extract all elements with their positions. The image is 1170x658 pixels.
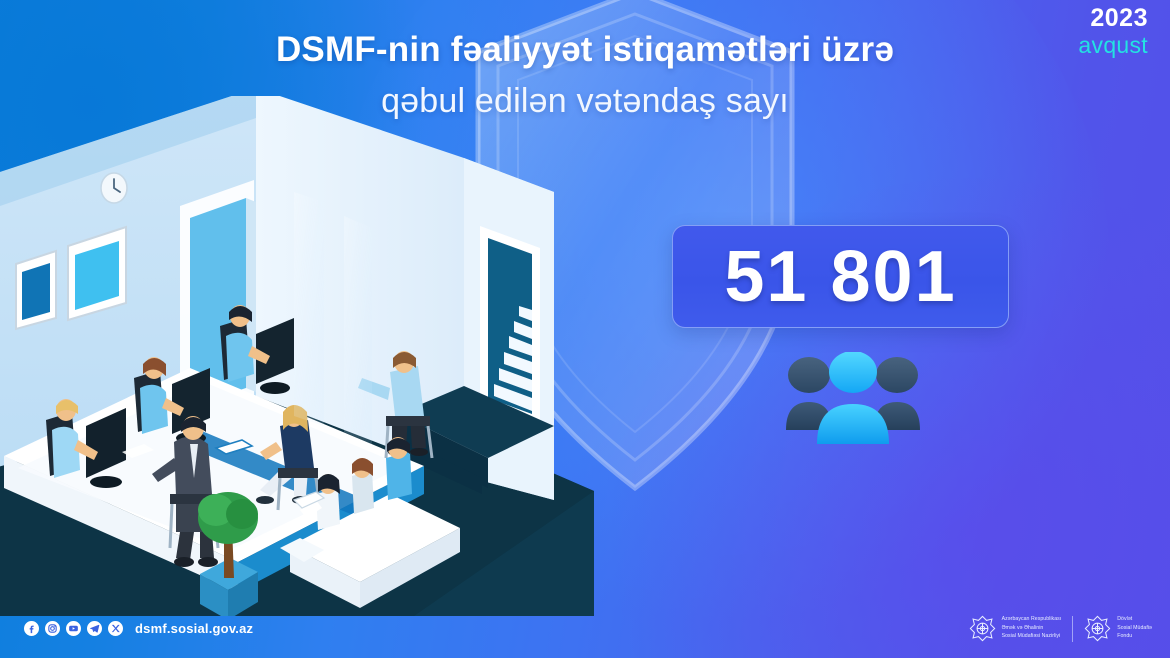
statistic-value: 51 801 (724, 236, 956, 318)
ministry-logo-line-2: Əmək və Əhalinin (1002, 625, 1062, 633)
instagram-icon[interactable] (45, 621, 60, 636)
dsmf-emblem-icon (1084, 615, 1111, 642)
footer-logos: Azərbaycan Respublikası Əmək və Əhalinin… (969, 615, 1152, 642)
dsmf-logo: Dövlət Sosial Müdafiə Fondu (1084, 615, 1152, 642)
ministry-logo-text: Azərbaycan Respublikası Əmək və Əhalinin… (1002, 616, 1062, 641)
x-twitter-icon[interactable] (108, 621, 123, 636)
dsmf-logo-line-2: Sosial Müdafiə (1117, 625, 1152, 633)
social-links-bar[interactable]: dsmf.sosial.gov.az (24, 621, 253, 636)
office-illustration (0, 96, 634, 616)
ministry-logo-line-3: Sosial Müdafiəsi Nazirliyi (1002, 633, 1062, 641)
page-subtitle: qəbul edilən vətəndaş sayı (0, 81, 1170, 122)
ministry-emblem-icon (969, 615, 996, 642)
logo-divider (1072, 616, 1073, 642)
ministry-logo-line-1: Azərbaycan Respublikası (1002, 616, 1062, 624)
poster-headings: DSMF-nin fəaliyyət istiqamətləri üzrə qə… (0, 30, 1170, 121)
dsmf-logo-text: Dövlət Sosial Müdafiə Fondu (1117, 616, 1152, 641)
wall-clock (101, 173, 127, 203)
date-month: avqust (1078, 34, 1148, 57)
website-url[interactable]: dsmf.sosial.gov.az (135, 621, 253, 636)
facebook-icon[interactable] (24, 621, 39, 636)
ministry-logo: Azərbaycan Respublikası Əmək və Əhalinin… (969, 615, 1062, 642)
youtube-icon[interactable] (66, 621, 81, 636)
telegram-icon[interactable] (87, 621, 102, 636)
date-stamp: 2023 avqust (1078, 6, 1148, 57)
dsmf-logo-line-3: Fondu (1117, 633, 1152, 641)
infographic-poster: DSMF-nin fəaliyyət istiqamətləri üzrə qə… (0, 0, 1170, 658)
statistic-badge: 51 801 (672, 225, 1009, 328)
dsmf-logo-line-1: Dövlət (1117, 616, 1152, 624)
date-year: 2023 (1078, 6, 1148, 31)
page-title: DSMF-nin fəaliyyət istiqamətləri üzrə (0, 30, 1170, 71)
people-group-icon (786, 352, 920, 448)
